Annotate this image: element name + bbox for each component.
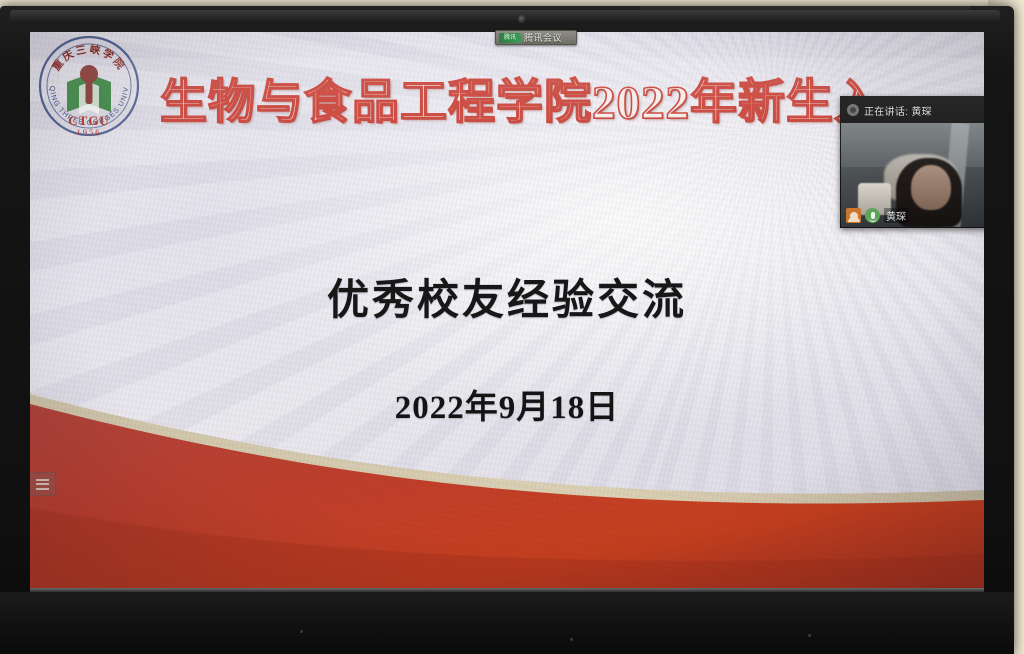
monitor-top-bezel xyxy=(10,10,1000,22)
body-screw xyxy=(808,634,811,637)
participant-video-tile[interactable]: 正在讲话: 黄琛 黄琛 xyxy=(840,96,984,228)
host-badge-icon xyxy=(846,208,861,223)
slide-date: 2022年9月18日 xyxy=(30,380,984,428)
slide-control-widget[interactable] xyxy=(30,472,56,496)
video-tile-header: 正在讲话: 黄琛 xyxy=(841,97,984,123)
participant-face xyxy=(911,165,951,211)
video-tile-footer: 黄琛 xyxy=(846,208,908,223)
ctgu-university-seal: 重庆三峡学院 CHONGQING THREE GORGES UNIVERSITY… xyxy=(33,32,145,142)
laptop-monitor-chassis: 重庆三峡学院 CHONGQING THREE GORGES UNIVERSITY… xyxy=(0,6,1014,654)
body-screw xyxy=(300,630,303,633)
body-screw xyxy=(570,638,573,641)
webcam-dot-icon xyxy=(518,15,527,24)
svg-text:1956: 1956 xyxy=(77,127,102,137)
list-lines-icon xyxy=(36,479,49,490)
tencent-meeting-icon-text: 腾讯 xyxy=(504,35,516,41)
slide-title: 生物与食品工程学院2022年新生入 xyxy=(160,78,950,130)
tencent-meeting-label: 腾讯 腾讯会议 xyxy=(495,30,577,45)
tencent-meeting-icon: 腾讯 xyxy=(499,33,521,43)
tencent-meeting-label-text: 腾讯会议 xyxy=(524,31,562,44)
participant-name-label: 黄琛 xyxy=(884,208,908,223)
speaking-indicator-label: 正在讲话: 黄琛 xyxy=(864,103,932,118)
screen-display-area: 重庆三峡学院 CHONGQING THREE GORGES UNIVERSITY… xyxy=(30,32,984,588)
photographed-screen-scene: 重庆三峡学院 CHONGQING THREE GORGES UNIVERSITY… xyxy=(0,0,1024,654)
microphone-on-icon[interactable] xyxy=(865,208,880,223)
slide-subtitle: 优秀校友经验交流 xyxy=(30,266,984,327)
svg-text:CTGU: CTGU xyxy=(68,113,110,128)
speaker-avatar-icon xyxy=(847,104,859,116)
monitor-bottom-body xyxy=(0,592,1014,654)
